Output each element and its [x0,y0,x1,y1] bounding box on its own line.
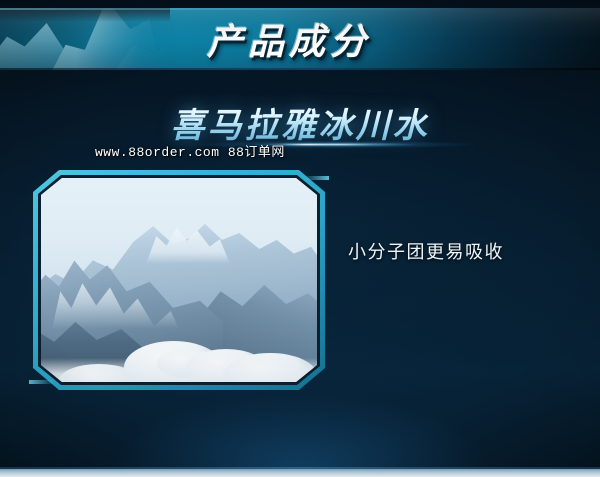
banner-title: 产品成分 [0,8,600,70]
product-ingredients-page: 产品成分 喜马拉雅冰川水 www.88order.com 88订单网 [0,0,600,477]
photo-frame [33,170,325,390]
himalaya-mountain-image [41,178,317,382]
frame-accent-bottom-left [29,380,55,384]
feature-caption: 小分子团更易吸收 [348,238,504,264]
bottom-strip [0,469,600,477]
frame-accent-top-right [303,176,329,180]
section-banner: 产品成分 [0,8,600,70]
site-watermark: www.88order.com 88订单网 [95,141,285,160]
